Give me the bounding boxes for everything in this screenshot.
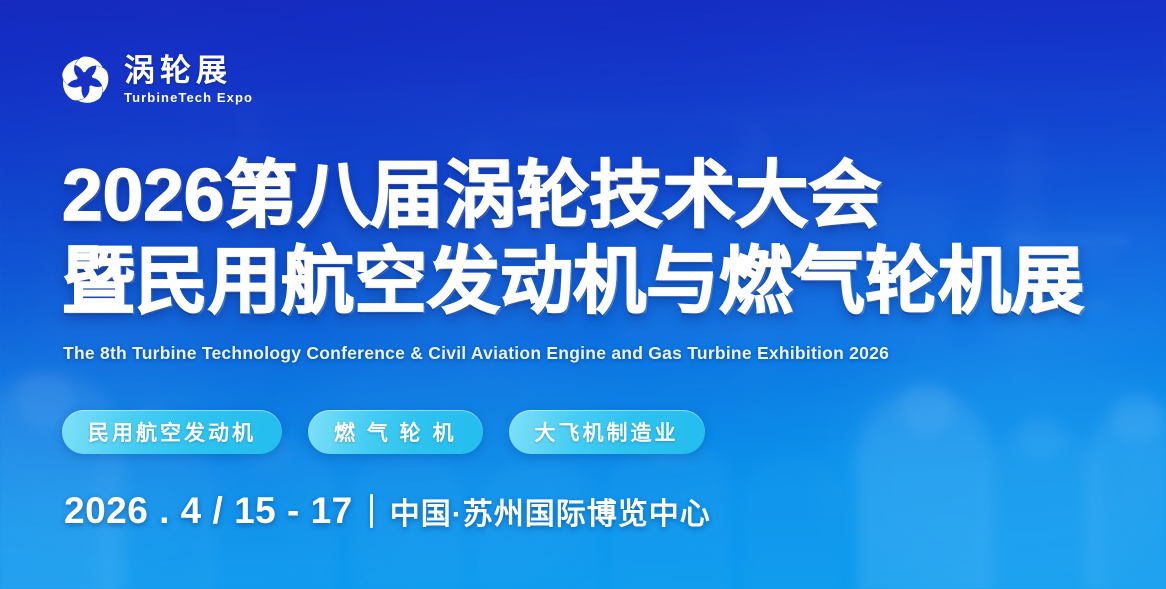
topic-tag-list: 民用航空发动机 燃 气 轮 机 大飞机制造业	[62, 410, 705, 454]
topic-tag-label: 民用航空发动机	[88, 417, 256, 447]
event-banner: 涡轮展 TurbineTech Expo 2026第八届涡轮技术大会 暨民用航空…	[0, 0, 1166, 589]
logo-name-cn: 涡轮展	[124, 55, 253, 88]
event-date: 2026 . 4 / 15 - 17	[64, 490, 353, 532]
date-venue-separator	[370, 494, 373, 528]
topic-tag-gas-turbine[interactable]: 燃 气 轮 机	[308, 410, 483, 454]
topic-tag-label: 燃 气 轮 机	[334, 417, 457, 447]
brand-logo[interactable]: 涡轮展 TurbineTech Expo	[57, 52, 253, 108]
date-venue-row: 2026 . 4 / 15 - 17 中国·苏州国际博览中心	[64, 489, 711, 533]
topic-tag-label: 大飞机制造业	[535, 417, 679, 447]
logo-name-en: TurbineTech Expo	[124, 90, 253, 106]
topic-tag-large-aircraft-manufacturing[interactable]: 大飞机制造业	[509, 410, 705, 454]
topic-tag-civil-aviation-engine[interactable]: 民用航空发动机	[62, 410, 282, 454]
title-line-2: 暨民用航空发动机与燃气轮机展	[62, 243, 1084, 321]
event-venue: 中国·苏州国际博览中心	[390, 489, 711, 533]
turbine-swirl-icon	[57, 52, 113, 108]
subtitle-english: The 8th Turbine Technology Conference & …	[63, 343, 889, 364]
title-line-1: 2026第八届涡轮技术大会	[62, 157, 881, 235]
